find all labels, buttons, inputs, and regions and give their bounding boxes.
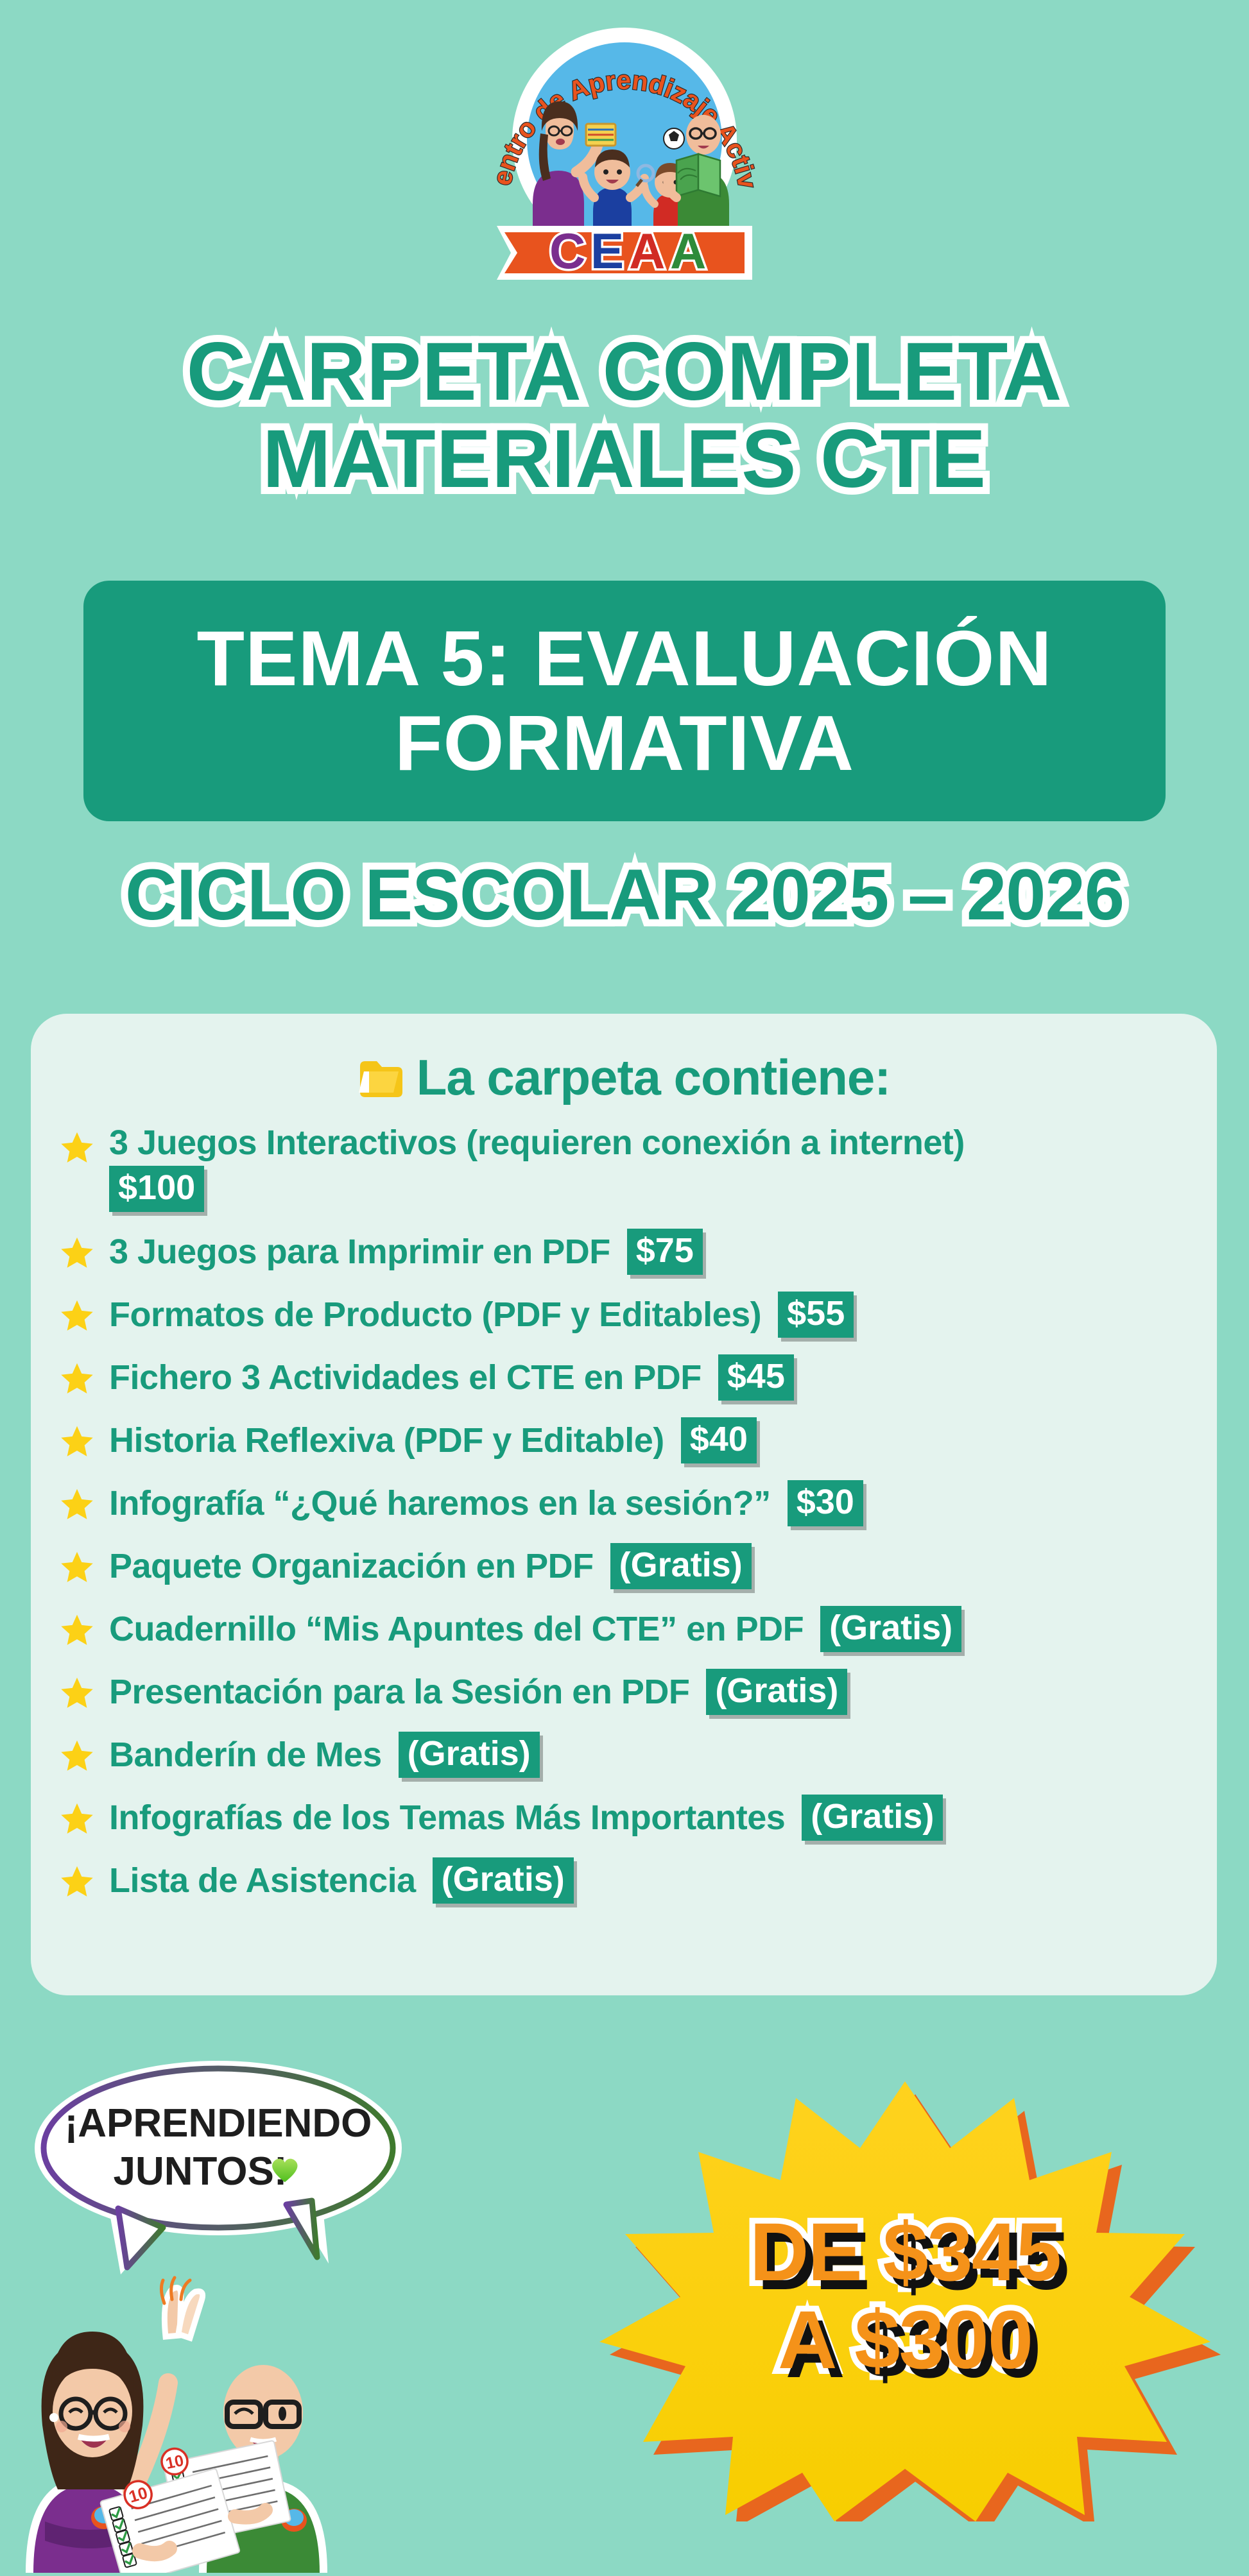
list-item: Paquete Organización en PDF (Gratis) — [59, 1543, 1189, 1589]
list-item: Historia Reflexiva (PDF y Editable) $40 — [59, 1417, 1189, 1463]
svg-text:E: E — [590, 223, 624, 279]
star-icon — [59, 1298, 95, 1334]
list-item: Lista de Asistencia (Gratis) — [59, 1857, 1189, 1904]
topic-line-1: TEMA 5: EVALUACIÓN — [197, 617, 1053, 701]
item-label: Paquete Organización en PDF — [109, 1547, 594, 1585]
svg-text:C: C — [549, 223, 585, 279]
price-badge: (Gratis) — [610, 1543, 752, 1589]
star-icon — [59, 1801, 95, 1837]
folder-icon — [357, 1059, 405, 1097]
item-label: Presentación para la Sesión en PDF — [109, 1673, 689, 1711]
item-label: Lista de Asistencia — [109, 1861, 416, 1900]
list-item: Presentación para la Sesión en PDF (Grat… — [59, 1669, 1189, 1715]
item-label: 3 Juegos para Imprimir en PDF — [109, 1233, 610, 1271]
price-badge: $100 — [109, 1166, 204, 1212]
contents-title-label: La carpeta contiene: — [417, 1048, 891, 1107]
star-icon — [59, 1361, 95, 1397]
list-item: 3 Juegos Interactivos (requieren conexió… — [59, 1123, 1189, 1212]
item-label: Fichero 3 Actividades el CTE en PDF — [109, 1358, 702, 1397]
item-label: Cuadernillo “Mis Apuntes del CTE” en PDF — [109, 1610, 804, 1648]
list-item: Formatos de Producto (PDF y Editables) $… — [59, 1292, 1189, 1338]
price-badge: (Gratis) — [802, 1795, 943, 1841]
bubble-line-2-text: JUNTOS! — [113, 2149, 287, 2194]
list-item: Fichero 3 Actividades el CTE en PDF $45 — [59, 1354, 1189, 1401]
page-title: CARPETA COMPLETA MATERIALES CTE — [0, 328, 1249, 502]
price-badge: $40 — [681, 1417, 757, 1463]
star-icon — [59, 1738, 95, 1774]
star-icon — [59, 1424, 95, 1460]
title-line-2: MATERIALES CTE — [0, 416, 1249, 503]
price-badge: (Gratis) — [433, 1857, 574, 1904]
teachers-graphic: 10 — [6, 2265, 456, 2573]
star-icon — [59, 1675, 95, 1711]
price-burst — [565, 2072, 1245, 2521]
topic-line-2: FORMATIVA — [197, 701, 1053, 786]
price-badge: $45 — [718, 1354, 794, 1401]
contents-card: La carpeta contiene: 3 Juegos Interactiv… — [31, 1014, 1217, 1995]
logo-graphic: Centro de Aprendizaje Activo — [474, 12, 775, 287]
list-item: Infografía “¿Qué haremos en la sesión?” … — [59, 1480, 1189, 1526]
item-label: Formatos de Producto (PDF y Editables) — [109, 1295, 761, 1334]
list-item: Infografías de los Temas Más Importantes… — [59, 1795, 1189, 1841]
teachers-illustration: 10 — [6, 2265, 456, 2573]
star-icon — [59, 1130, 95, 1166]
star-icon — [59, 1549, 95, 1585]
price-badge: (Gratis) — [820, 1606, 961, 1652]
item-label: Infografías de los Temas Más Importantes — [109, 1798, 785, 1837]
star-icon — [59, 1235, 95, 1271]
svg-text:A: A — [670, 223, 706, 279]
contents-list: 3 Juegos Interactivos (requieren conexió… — [31, 1123, 1217, 1904]
list-item: Banderín de Mes (Gratis) — [59, 1732, 1189, 1778]
bubble-line-1-text: ¡APRENDIENDO — [65, 2101, 372, 2145]
price-badge: $75 — [627, 1229, 703, 1275]
title-line-1: CARPETA COMPLETA — [0, 328, 1249, 416]
price-badge: (Gratis) — [706, 1669, 847, 1715]
contents-title: La carpeta contiene: — [31, 1048, 1217, 1107]
topic-banner: TEMA 5: EVALUACIÓN FORMATIVA — [83, 581, 1166, 821]
item-label: Historia Reflexiva (PDF y Editable) — [109, 1421, 664, 1460]
price-badge: (Gratis) — [399, 1732, 540, 1778]
star-icon — [59, 1487, 95, 1523]
burst-shape — [565, 2072, 1245, 2521]
list-item: Cuadernillo “Mis Apuntes del CTE” en PDF… — [59, 1606, 1189, 1652]
grade-mark-text: 10 — [164, 2452, 185, 2473]
price-badge: $30 — [788, 1480, 863, 1526]
ceaa-logo: Centro de Aprendizaje Activo — [474, 12, 775, 287]
star-icon — [59, 1612, 95, 1648]
list-item: 3 Juegos para Imprimir en PDF $75 — [59, 1229, 1189, 1275]
item-label: Infografía “¿Qué haremos en la sesión?” — [109, 1484, 771, 1523]
school-cycle: CICLO ESCOLAR 2025 – 2026 — [0, 853, 1249, 936]
svg-text:A: A — [629, 223, 665, 279]
price-badge: $55 — [778, 1292, 854, 1338]
item-label: 3 Juegos Interactivos (requieren conexió… — [109, 1123, 965, 1162]
item-label: Banderín de Mes — [109, 1736, 382, 1774]
star-icon — [59, 1864, 95, 1900]
